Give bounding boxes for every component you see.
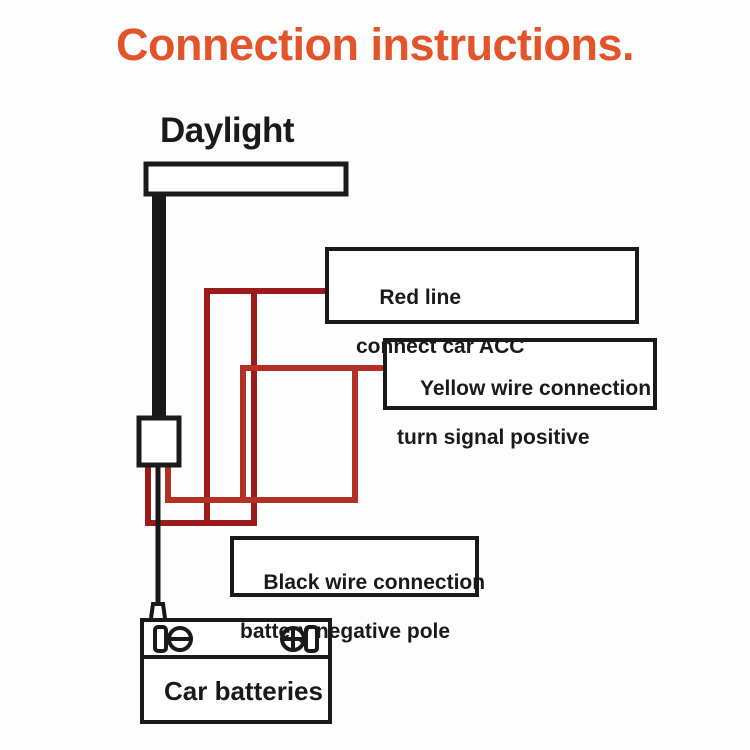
red-acc-wire-riser: [207, 291, 330, 523]
connector-block: [139, 418, 179, 465]
battery-vent-plug-left: [155, 627, 166, 651]
car-battery-label: Car batteries: [164, 676, 323, 707]
yellow-turn-signal-wire: [168, 368, 388, 500]
main-black-cable: [152, 190, 166, 422]
spade-terminal-icon: [151, 604, 165, 618]
page-title: Connection instructions.: [0, 18, 750, 71]
black-wire-callout-text: Black wire connection battery negative p…: [240, 546, 485, 695]
red-line-callout-line1: Red line: [379, 286, 461, 309]
daylight-label: Daylight: [160, 110, 294, 151]
red-acc-wire: [148, 291, 330, 523]
black-wire-callout-line1: Black wire connection: [263, 571, 485, 594]
black-wire-callout-line2: battery negative pole: [240, 620, 485, 645]
daylight-bar: [146, 164, 346, 194]
yellow-wire-callout-text: Yellow wire connection turn signal posit…: [397, 352, 651, 501]
yellow-wire-callout-line2: turn signal positive: [397, 426, 651, 451]
connection-instructions-diagram: Connection instructions. Daylight Red li…: [0, 0, 750, 750]
yellow-wire-callout-line1: Yellow wire connection: [420, 377, 651, 400]
